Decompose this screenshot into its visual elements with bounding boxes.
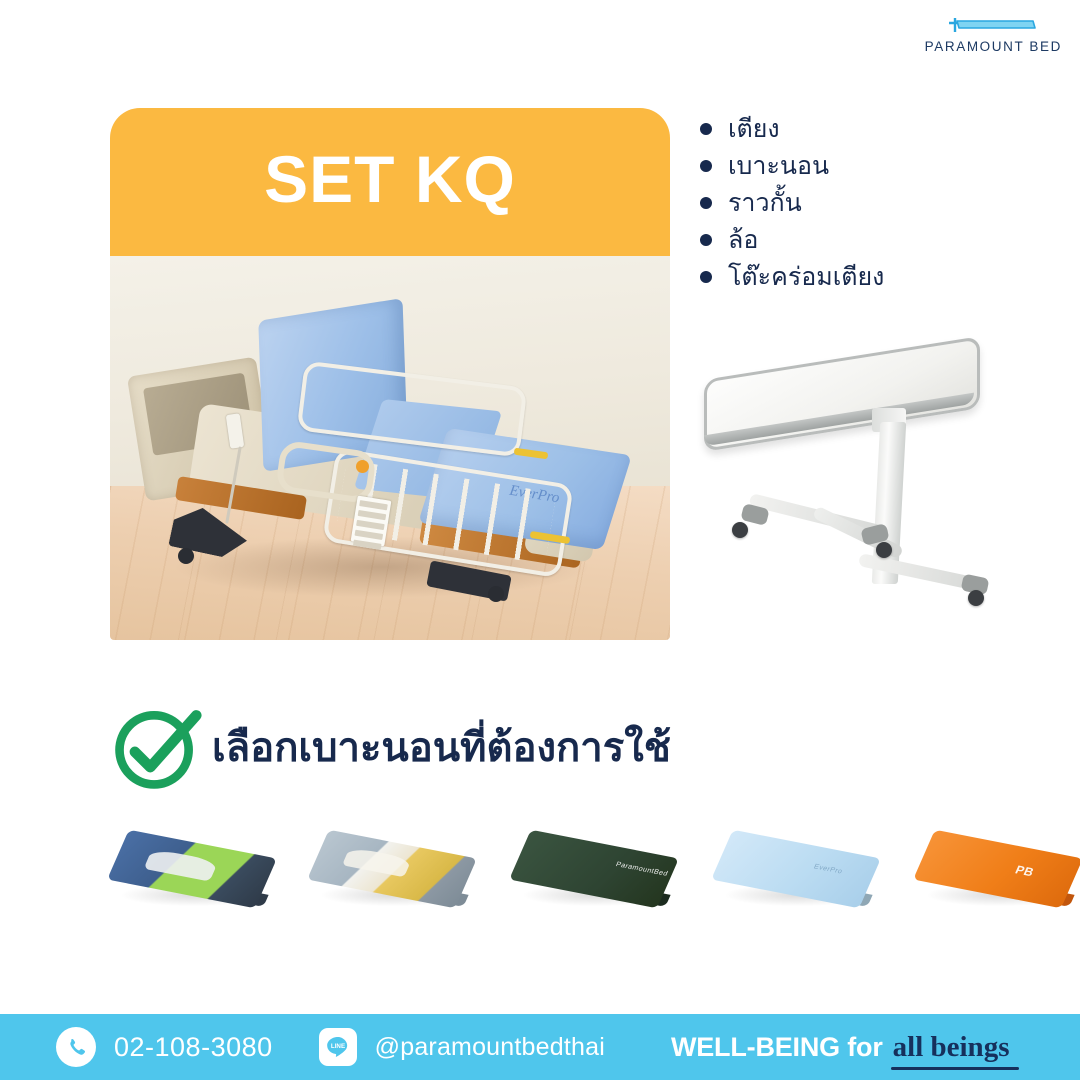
overbed-table-photo bbox=[690, 330, 1010, 650]
list-item: เบาะนอน bbox=[700, 147, 1040, 184]
line-id[interactable]: @paramountbedthai bbox=[375, 1033, 605, 1062]
poster-canvas: PARAMOUNT BED SET KQ EverPro bbox=[0, 0, 1080, 1080]
bullet-icon bbox=[700, 160, 712, 172]
bed-logo-icon bbox=[945, 12, 1041, 38]
mattress-blue-green-cutaway[interactable] bbox=[110, 828, 280, 920]
bullet-icon bbox=[700, 234, 712, 246]
list-item: ล้อ bbox=[700, 221, 1040, 258]
feature-label: โต๊ะคร่อมเตียง bbox=[728, 264, 884, 289]
contact-footer: 02-108-3080 LINE @paramountbedthai WELL-… bbox=[0, 1014, 1080, 1080]
feature-label: เบาะนอน bbox=[728, 153, 829, 178]
hospital-bed-illustration: EverPro bbox=[132, 300, 652, 630]
section-title: เลือกเบาะนอนที่ต้องการใช้ bbox=[212, 728, 671, 768]
mattress-orange[interactable]: PB bbox=[916, 828, 1080, 920]
bullet-icon bbox=[700, 123, 712, 135]
feature-label: เตียง bbox=[728, 116, 780, 141]
card-banner: SET KQ bbox=[110, 108, 670, 256]
product-card: SET KQ EverPro bbox=[110, 108, 670, 640]
tagline: WELL-BEING for all beings bbox=[671, 1031, 1010, 1064]
list-item: ราวกั้น bbox=[700, 184, 1040, 221]
mattress-dark-green[interactable]: ParamountBed bbox=[512, 828, 682, 920]
brand-logo: PARAMOUNT BED bbox=[925, 12, 1062, 54]
mattress-options: ParamountBed EverPro PB bbox=[100, 828, 1060, 928]
line-icon[interactable]: LINE bbox=[319, 1028, 357, 1066]
mattress-light-blue[interactable]: EverPro bbox=[714, 828, 884, 920]
page-title: SET KQ bbox=[264, 146, 516, 218]
tagline-accent: all beings bbox=[893, 1031, 1010, 1064]
feature-label: ล้อ bbox=[728, 227, 758, 252]
phone-number[interactable]: 02-108-3080 bbox=[114, 1032, 273, 1063]
phone-icon[interactable] bbox=[56, 1027, 96, 1067]
section-heading: เลือกเบาะนอนที่ต้องการใช้ bbox=[108, 700, 671, 796]
mattress-gray-yellow-cutaway[interactable] bbox=[310, 828, 480, 920]
feature-label: ราวกั้น bbox=[728, 190, 802, 215]
brand-name: PARAMOUNT BED bbox=[925, 39, 1062, 54]
bullet-icon bbox=[700, 197, 712, 209]
list-item: เตียง bbox=[700, 110, 1040, 147]
line-icon-label: LINE bbox=[331, 1043, 345, 1050]
green-check-circle-icon bbox=[108, 700, 204, 796]
tagline-main: WELL-BEING for bbox=[671, 1032, 883, 1063]
list-item: โต๊ะคร่อมเตียง bbox=[700, 258, 1040, 295]
hospital-bed-photo: EverPro bbox=[110, 256, 670, 640]
feature-list: เตียง เบาะนอน ราวกั้น ล้อ โต๊ะคร่อมเตียง bbox=[700, 110, 1040, 295]
bullet-icon bbox=[700, 271, 712, 283]
